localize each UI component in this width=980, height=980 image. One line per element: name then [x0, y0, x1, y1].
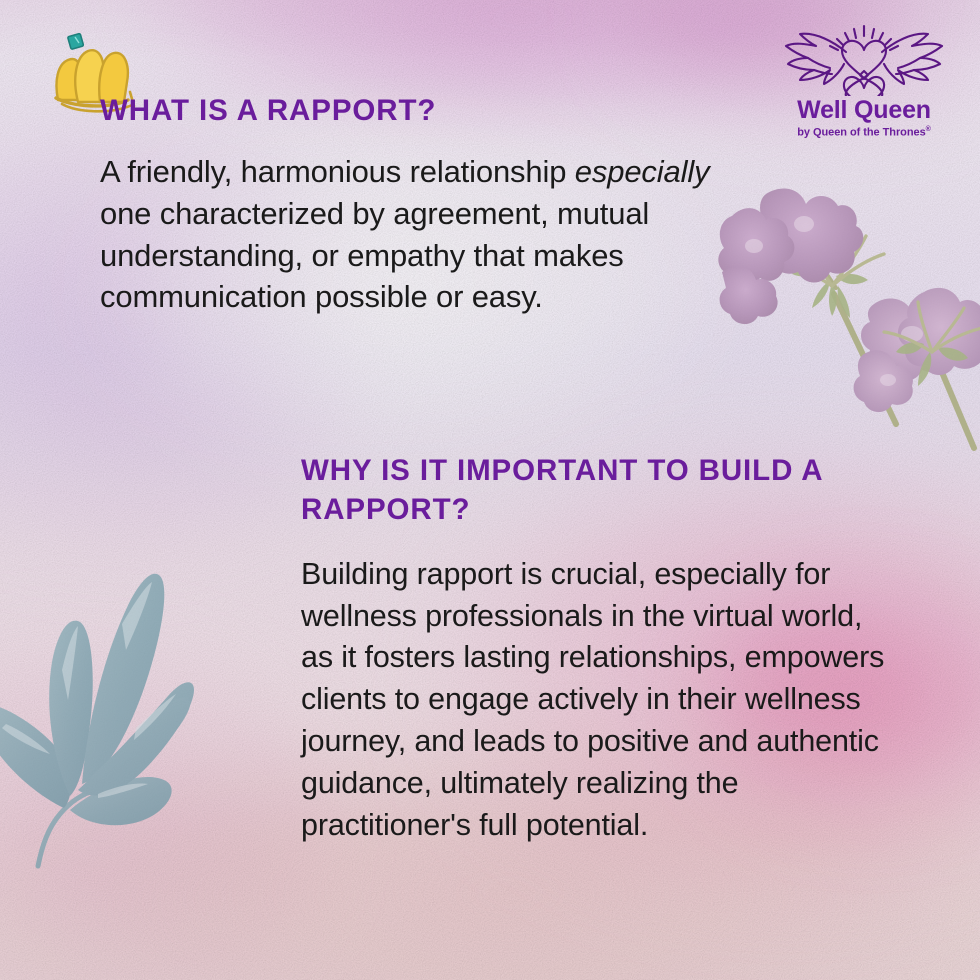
body-what-is-a-rapport: A friendly, harmonious relationship espe… — [100, 151, 720, 318]
body-why-is-it-important: Building rapport is crucial, especially … — [301, 554, 901, 846]
logo-tagline: by Queen of the Thrones® — [772, 126, 956, 139]
body-rest-text: one characterized by agreement, mutual u… — [100, 196, 649, 315]
body-lead-text: A friendly, harmonious relationship — [100, 154, 575, 189]
winged-heart-infinity-icon — [776, 22, 952, 96]
heading-why-is-it-important: WHY IS IT IMPORTANT TO BUILD A RAPPORT? — [301, 452, 901, 530]
body-emphasis-text: especially — [575, 154, 710, 189]
heading-what-is-a-rapport: WHAT IS A RAPPORT? — [100, 92, 720, 131]
brand-logo[interactable]: Well Queen by Queen of the Thrones® — [772, 22, 956, 139]
poster-canvas: Well Queen by Queen of the Thrones® WHAT… — [0, 0, 980, 980]
section-what-is-a-rapport: WHAT IS A RAPPORT? A friendly, harmoniou… — [100, 92, 720, 318]
registered-mark: ® — [926, 126, 931, 133]
logo-tagline-text: by Queen of the Thrones — [797, 127, 925, 139]
section-why-is-it-important: WHY IS IT IMPORTANT TO BUILD A RAPPORT? … — [301, 452, 901, 846]
logo-wordmark: Well Queen — [772, 97, 956, 123]
